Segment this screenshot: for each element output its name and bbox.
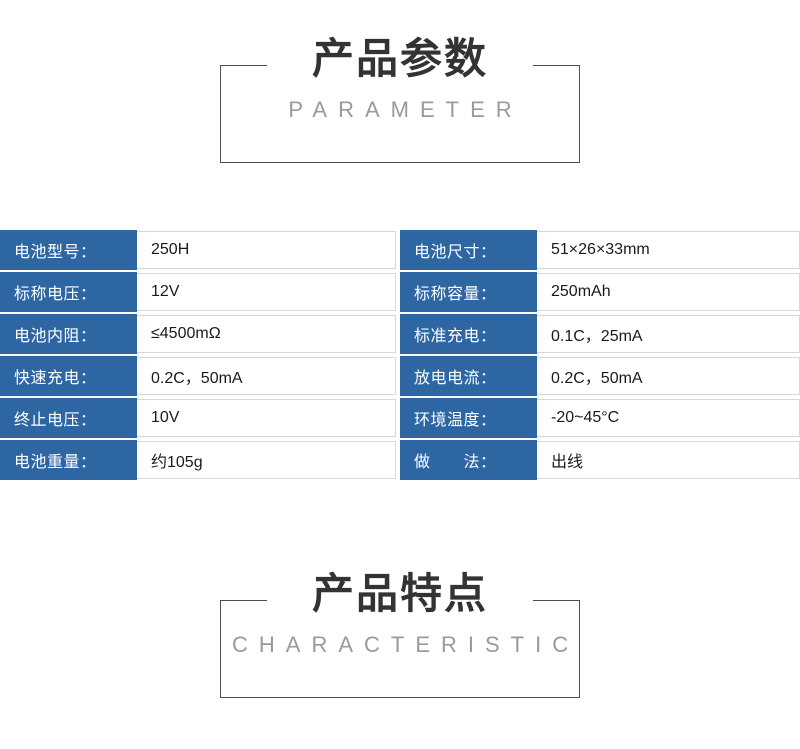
spec-label: 环境温度： [400,398,537,438]
spec-value: 0.2C，50mA [537,357,800,395]
spec-label: 标称容量： [400,272,537,312]
spec-label: 标称电压： [0,272,137,312]
spec-value: ≤4500mΩ [137,315,396,353]
page-title-characteristic-cn: 产品特点 [221,568,579,620]
table-row: 标准充电： 0.1C，25mA [400,314,800,356]
spec-label: 做 法： [400,440,537,480]
spec-label: 放电电流： [400,356,537,396]
spec-label: 标准充电： [400,314,537,354]
section-header-parameter: 产品参数 PARAMETER [220,65,580,163]
table-row: 环境温度： -20~45°C [400,398,800,440]
table-row: 终止电压： 10V [0,398,400,440]
page-title-parameter-en: PARAMETER [221,93,579,127]
spec-value: -20~45°C [537,399,800,437]
spec-label: 电池重量： [0,440,137,480]
table-row: 电池内阻： ≤4500mΩ [0,314,400,356]
spec-value: 0.2C，50mA [137,357,396,395]
table-row: 电池型号： 250H [0,230,400,272]
spec-label: 快速充电： [0,356,137,396]
table-row: 放电电流： 0.2C，50mA [400,356,800,398]
spec-value: 10V [137,399,396,437]
section-header-characteristic: 产品特点 CHARACTERISTIC [220,600,580,698]
spec-table-left-column: 电池型号： 250H 标称电压： 12V 电池内阻： ≤4500mΩ 快速充电：… [0,230,400,480]
spec-value: 250H [137,231,396,269]
spec-value: 0.1C，25mA [537,315,800,353]
page-title-characteristic-en: CHARACTERISTIC [221,628,579,662]
table-row: 标称容量： 250mAh [400,272,800,314]
spec-label: 终止电压： [0,398,137,438]
spec-label: 电池尺寸： [400,230,537,270]
header-titles-parameter: 产品参数 PARAMETER [221,33,579,127]
spec-table: 电池型号： 250H 标称电压： 12V 电池内阻： ≤4500mΩ 快速充电：… [0,230,800,480]
header-titles-characteristic: 产品特点 CHARACTERISTIC [221,568,579,662]
page-title-parameter-cn: 产品参数 [221,33,579,85]
spec-value: 出线 [537,441,800,479]
spec-value: 约105g [137,441,396,479]
table-row: 快速充电： 0.2C，50mA [0,356,400,398]
spec-label: 电池内阻： [0,314,137,354]
table-row: 做 法： 出线 [400,440,800,480]
table-row: 标称电压： 12V [0,272,400,314]
spec-value: 250mAh [537,273,800,311]
spec-value: 51×26×33mm [537,231,800,269]
table-row: 电池重量： 约105g [0,440,400,480]
spec-value: 12V [137,273,396,311]
spec-table-right-column: 电池尺寸： 51×26×33mm 标称容量： 250mAh 标准充电： 0.1C… [400,230,800,480]
spec-label: 电池型号： [0,230,137,270]
table-row: 电池尺寸： 51×26×33mm [400,230,800,272]
